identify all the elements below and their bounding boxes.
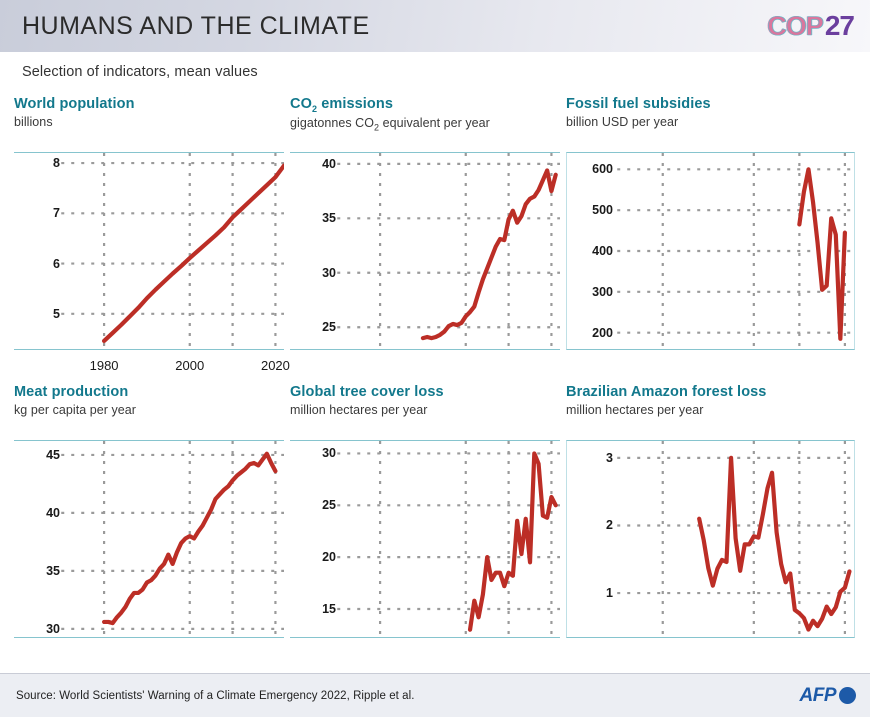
cop-logo-word: COP: [767, 11, 823, 42]
y-tick-label: 300: [592, 285, 613, 299]
chart-panel-fossil-fuel-subsidies: Fossil fuel subsidies billion USD per ye…: [566, 96, 855, 374]
chart-title: Global tree cover loss: [290, 384, 560, 401]
plot-area: 25303540: [290, 152, 560, 350]
y-axis-labels: 200300400500600: [567, 153, 613, 349]
y-axis-labels: 25303540: [290, 153, 336, 349]
plot-area: 5678: [14, 152, 284, 350]
y-tick-label: 40: [322, 157, 336, 171]
chart-panel-global-tree-cover-loss: Global tree cover loss million hectares …: [290, 384, 560, 662]
chart-subtitle: million hectares per year: [290, 403, 560, 417]
chart-row-top: World population billions 5678 198020002…: [0, 96, 870, 374]
chart-title: CO2 emissions: [290, 96, 560, 114]
x-tick-label: 2020: [261, 358, 290, 373]
y-tick-label: 15: [322, 602, 336, 616]
y-tick-label: 25: [322, 320, 336, 334]
y-tick-label: 600: [592, 162, 613, 176]
plot-area: 123: [566, 440, 855, 638]
y-tick-label: 25: [322, 498, 336, 512]
chart-subtitle: million hectares per year: [566, 403, 855, 417]
chart-subtitle: kg per capita per year: [14, 403, 284, 417]
y-tick-label: 30: [46, 622, 60, 636]
y-tick-label: 45: [46, 448, 60, 462]
y-tick-label: 6: [53, 257, 60, 271]
plot-area: 200300400500600: [566, 152, 855, 350]
chart-panel-brazilian-amazon-forest-loss: Brazilian Amazon forest loss million hec…: [566, 384, 855, 662]
x-axis-labels: 198020002020: [14, 358, 284, 376]
afp-wordmark: AFP: [800, 685, 837, 707]
chart-title: World population: [14, 96, 284, 113]
afp-logo: AFP: [800, 685, 857, 707]
y-tick-label: 35: [46, 564, 60, 578]
x-tick-label: 2000: [175, 358, 204, 373]
page-header: HUMANS AND THE CLIMATE COP27: [0, 0, 870, 52]
page-title: HUMANS AND THE CLIMATE: [22, 12, 370, 41]
cop-logo-number: 27: [825, 10, 854, 42]
chart-title: Fossil fuel subsidies: [566, 96, 855, 113]
y-tick-label: 2: [606, 518, 613, 532]
page-footer: Source: World Scientists' Warning of a C…: [0, 673, 870, 717]
chart-title: Brazilian Amazon forest loss: [566, 384, 855, 401]
y-tick-label: 1: [606, 586, 613, 600]
source-note: Source: World Scientists' Warning of a C…: [16, 690, 414, 702]
plot-area: 15202530: [290, 440, 560, 638]
cop27-logo: COP27: [767, 10, 854, 42]
y-tick-label: 30: [322, 446, 336, 460]
chart-row-bottom: Meat production kg per capita per year 3…: [0, 384, 870, 662]
y-tick-label: 30: [322, 266, 336, 280]
x-tick-label: 1980: [90, 358, 119, 373]
chart-panel-co2-emissions: CO2 emissions gigatonnes CO2 equivalent …: [290, 96, 560, 374]
chart-subtitle: billions: [14, 115, 284, 129]
y-tick-label: 3: [606, 451, 613, 465]
y-tick-label: 500: [592, 203, 613, 217]
y-tick-label: 7: [53, 206, 60, 220]
chart-panel-world-population: World population billions 5678 198020002…: [14, 96, 284, 374]
y-axis-labels: 123: [567, 441, 613, 637]
chart-title: Meat production: [14, 384, 284, 401]
chart-subtitle: gigatonnes CO2 equivalent per year: [290, 116, 560, 133]
y-axis-labels: 15202530: [290, 441, 336, 637]
y-tick-label: 8: [53, 156, 60, 170]
y-tick-label: 40: [46, 506, 60, 520]
y-tick-label: 35: [322, 211, 336, 225]
plot-area: 30354045: [14, 440, 284, 638]
y-tick-label: 5: [53, 307, 60, 321]
chart-subtitle: billion USD per year: [566, 115, 855, 129]
chart-grid: World population billions 5678 198020002…: [0, 96, 870, 671]
page-subtitle: Selection of indicators, mean values: [22, 64, 258, 80]
y-axis-labels: 5678: [14, 153, 60, 349]
y-axis-labels: 30354045: [14, 441, 60, 637]
y-tick-label: 20: [322, 550, 336, 564]
afp-dot-icon: [839, 687, 856, 704]
chart-panel-meat-production: Meat production kg per capita per year 3…: [14, 384, 284, 662]
y-tick-label: 200: [592, 326, 613, 340]
y-tick-label: 400: [592, 244, 613, 258]
